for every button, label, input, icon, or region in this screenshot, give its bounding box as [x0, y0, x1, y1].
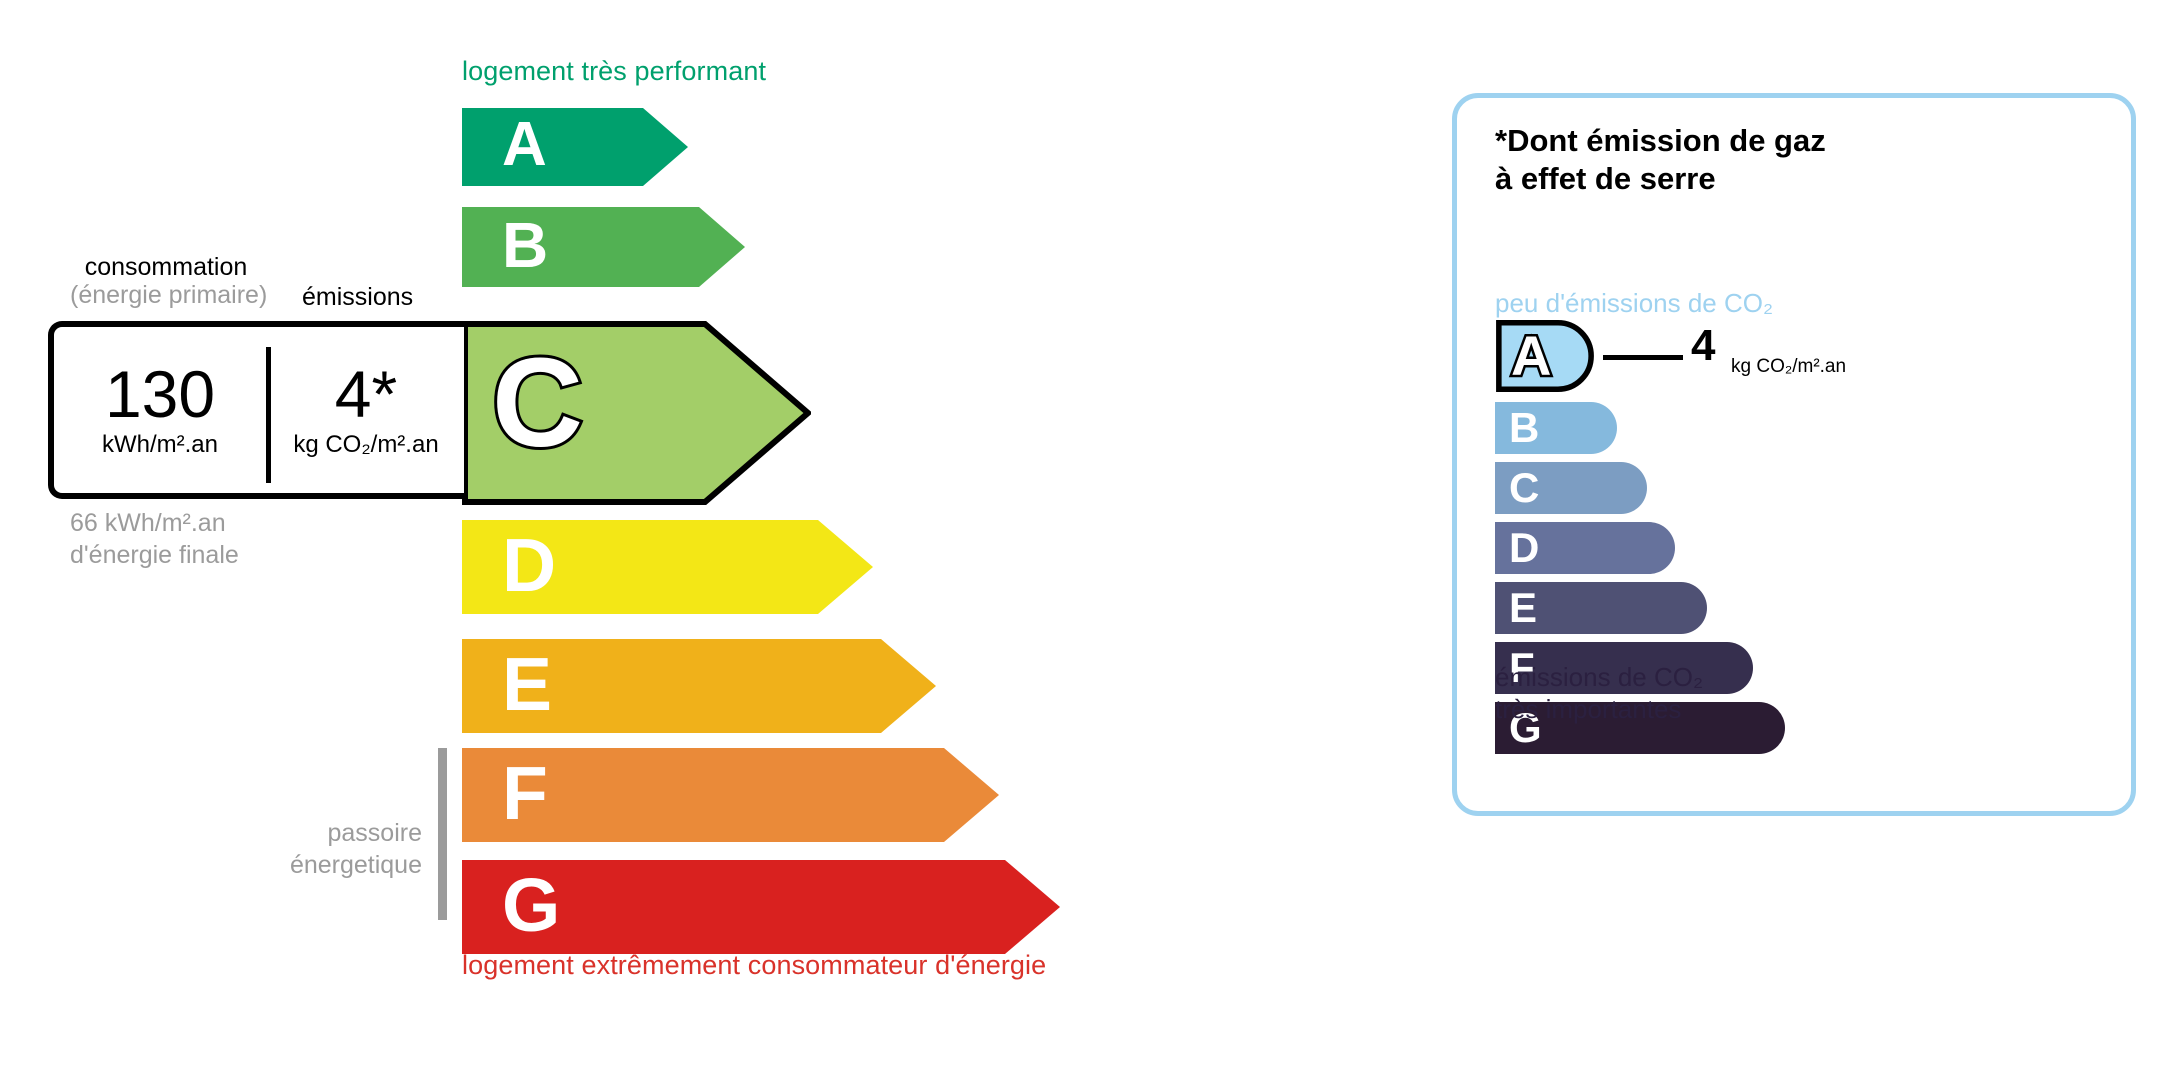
- emissions-value-cell: 4* kg CO₂/m².an: [268, 327, 464, 493]
- value-box: 130 kWh/m².an 4* kg CO₂/m².an: [48, 321, 464, 499]
- energy-performance-scale: logement très performant ABCDEFG 130 kWh…: [0, 0, 1400, 1079]
- co2-row-a: A4kg CO₂/m².an: [1495, 320, 2095, 392]
- co2-row-c: C: [1495, 462, 2095, 514]
- grade-arrow-a: [462, 108, 688, 186]
- co2-bar-e: [1495, 582, 1707, 634]
- passoire-label-line1: passoire: [270, 818, 422, 850]
- consumption-header-line2: (énergie primaire): [70, 281, 262, 309]
- grade-arrow-g: [462, 860, 1060, 954]
- co2-title-line2: à effet de serre: [1495, 160, 1826, 198]
- co2-badge-a: [1495, 320, 1595, 392]
- emissions-value: 4*: [335, 361, 397, 427]
- consumption-header-line1: consommation: [85, 253, 248, 281]
- co2-bar-c: [1495, 462, 1647, 514]
- emissions-unit: kg CO₂/m².an: [293, 431, 438, 459]
- passoire-marker-bar: [438, 748, 447, 920]
- co2-panel-title: *Dont émission de gaz à effet de serre: [1495, 122, 1826, 198]
- co2-bottom-caption-line1: émissions de CO₂: [1495, 661, 1703, 693]
- co2-bar-b: [1495, 402, 1617, 454]
- co2-bar-d: [1495, 522, 1675, 574]
- co2-value: 4: [1691, 324, 1715, 368]
- co2-row-b: B: [1495, 402, 2095, 454]
- emissions-header: émissions: [302, 283, 413, 311]
- consumption-value-cell: 130 kWh/m².an: [54, 327, 266, 493]
- consumption-header: consommation (énergie primaire): [70, 253, 262, 309]
- grade-arrow-e: [462, 639, 936, 733]
- scale-bottom-caption: logement extrêmement consommateur d'éner…: [462, 950, 1046, 981]
- grade-arrow-f: [462, 748, 999, 842]
- passoire-label: passoire énergetique: [270, 818, 422, 881]
- grade-arrow-c: [462, 321, 811, 505]
- final-energy-note: 66 kWh/m².an d'énergie finale: [70, 508, 239, 571]
- co2-row-e: E: [1495, 582, 2095, 634]
- passoire-label-line2: énergetique: [270, 850, 422, 882]
- co2-row-d: D: [1495, 522, 2095, 574]
- co2-value-unit: kg CO₂/m².an: [1731, 356, 1846, 378]
- co2-emissions-panel: *Dont émission de gaz à effet de serre p…: [1452, 93, 2136, 816]
- final-energy-line2: d'énergie finale: [70, 540, 239, 572]
- co2-bottom-caption-line2: très importantes: [1495, 693, 1703, 725]
- grade-arrow-b: [462, 207, 745, 287]
- grade-arrow-d: [462, 520, 873, 614]
- co2-top-caption: peu d'émissions de CO₂: [1495, 288, 1773, 319]
- co2-leader-line: [1603, 355, 1683, 360]
- consumption-value: 130: [105, 361, 215, 427]
- final-energy-line1: 66 kWh/m².an: [70, 508, 239, 540]
- co2-title-line1: *Dont émission de gaz: [1495, 122, 1826, 160]
- consumption-unit: kWh/m².an: [102, 431, 218, 459]
- co2-bottom-caption: émissions de CO₂ très importantes: [1495, 661, 1703, 725]
